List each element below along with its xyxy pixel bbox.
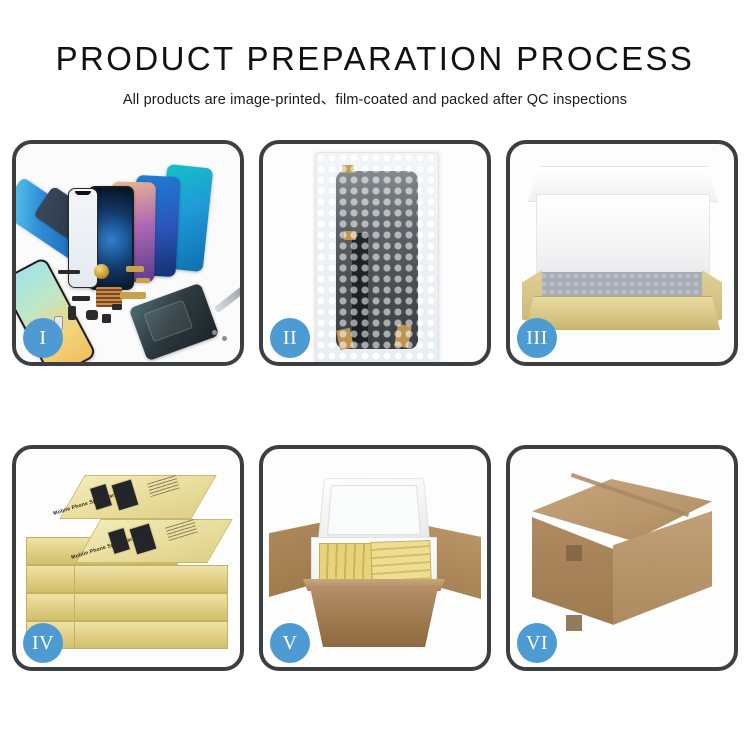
step-badge-2: II — [270, 318, 310, 358]
carton-tape-icon — [566, 615, 582, 631]
foam-cooler-lid-icon — [318, 478, 431, 544]
process-step-panel-1: I — [12, 140, 244, 366]
process-step-grid: I II III — [12, 140, 738, 671]
retail-box-top-icon — [59, 475, 216, 519]
camera-module-icon — [68, 306, 76, 320]
carton-front-panel-icon — [299, 585, 449, 647]
foam-sheet-icon — [536, 194, 710, 278]
carton-tape-icon — [566, 545, 582, 561]
screw-icon — [212, 330, 217, 335]
speaker-component-icon — [94, 264, 109, 279]
step-badge-3: III — [517, 318, 557, 358]
display-flex-cable-icon — [120, 292, 146, 299]
process-step-panel-5: V — [259, 445, 491, 671]
bubble-wrap-filler-icon — [540, 272, 704, 300]
page-header: PRODUCT PREPARATION PROCESS All products… — [0, 0, 750, 109]
button-component-icon — [112, 304, 122, 310]
bubble-wrap-bag-icon — [315, 152, 439, 362]
box-front-panel-icon — [526, 296, 720, 330]
process-step-panel-2: II — [259, 140, 491, 366]
vibrator-component-icon — [86, 310, 98, 320]
connector-component-icon — [72, 296, 90, 301]
process-step-panel-3: III — [506, 140, 738, 366]
step-badge-5: V — [270, 623, 310, 663]
screw-icon — [222, 336, 227, 341]
antenna-component-icon — [58, 270, 80, 274]
step-badge-4: IV — [23, 623, 63, 663]
chip-component-icon — [102, 314, 111, 323]
page-title: PRODUCT PREPARATION PROCESS — [0, 0, 750, 77]
process-step-panel-4: Mobile Phone Spare Parts Mobile Phone Sp… — [12, 445, 244, 671]
page-subtitle: All products are image-printed、film-coat… — [0, 77, 750, 109]
flex-cable-small-icon — [136, 278, 150, 283]
flex-cable-icon — [126, 266, 144, 272]
process-step-panel-6: VI — [506, 445, 738, 671]
carton-left-panel-icon — [532, 517, 614, 625]
step-badge-6: VI — [517, 623, 557, 663]
step-badge-1: I — [23, 318, 63, 358]
